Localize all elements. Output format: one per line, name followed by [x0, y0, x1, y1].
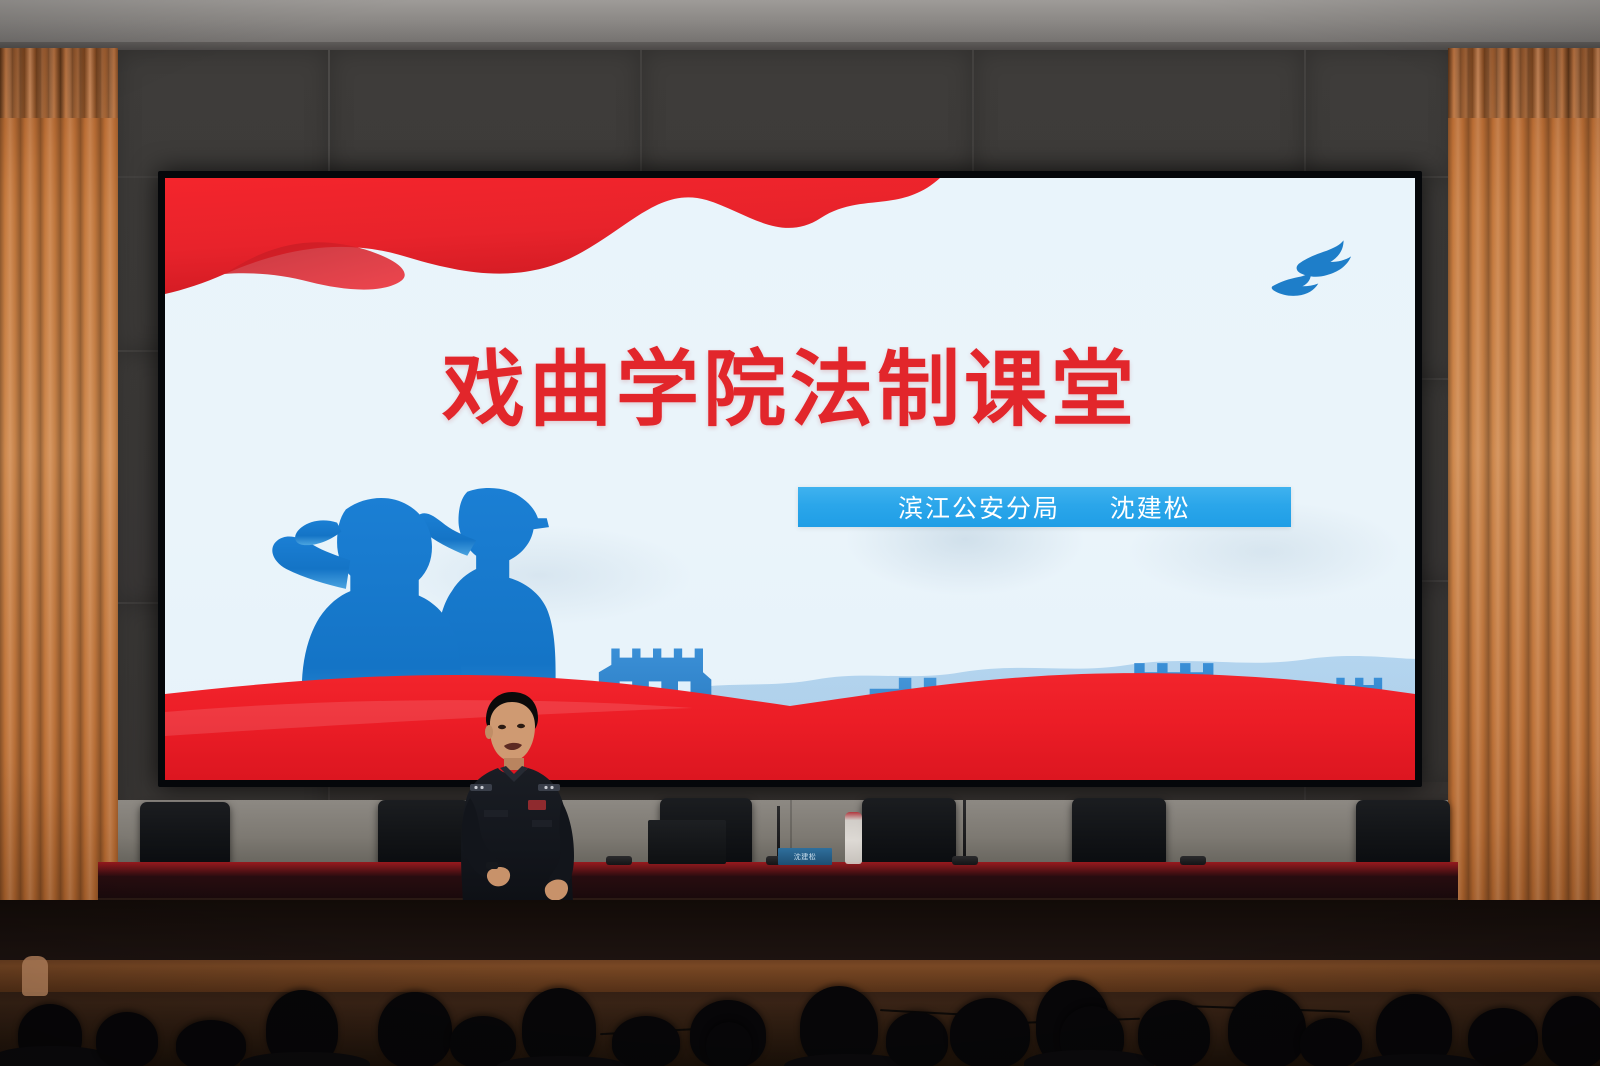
stage-curtain-right — [1448, 48, 1600, 948]
curtain-left-heading — [0, 48, 118, 118]
chair — [862, 798, 956, 864]
ceiling-soffit — [0, 0, 1600, 48]
raised-hand — [22, 956, 48, 996]
microphone-stem — [963, 800, 966, 858]
curtain-right-heading — [1448, 48, 1600, 118]
presenter-police-officer — [446, 684, 592, 924]
chair — [140, 802, 230, 864]
red-silk-ribbon — [165, 178, 940, 318]
audience-head — [1300, 1018, 1362, 1066]
led-screen-bezel: 戏曲学院法制课堂 滨江公安分局 沈建松 — [158, 171, 1422, 787]
auditorium-scene: 戏曲学院法制课堂 滨江公安分局 沈建松 — [0, 0, 1600, 1066]
chair — [1072, 798, 1166, 864]
audience-head — [950, 998, 1030, 1066]
stage-curtain-left — [0, 48, 118, 948]
subtitle-banner: 滨江公安分局 沈建松 — [798, 487, 1292, 527]
audience-head — [706, 1022, 752, 1066]
audience-head — [1542, 996, 1600, 1066]
chair — [1356, 800, 1450, 864]
slide-title: 戏曲学院法制课堂 — [165, 322, 1415, 442]
red-wave-band — [165, 650, 1415, 780]
audience-head — [612, 1016, 680, 1066]
audience-head — [378, 992, 452, 1066]
laptop-computer — [648, 820, 726, 864]
audience-head — [96, 1012, 158, 1066]
subtitle-text: 滨江公安分局 沈建松 — [898, 489, 1191, 525]
audience-head — [522, 988, 596, 1066]
audience-head — [1228, 990, 1306, 1066]
audience-head — [1138, 1000, 1210, 1066]
microphone-base — [1180, 856, 1206, 865]
flying-doves-icon — [1238, 232, 1363, 316]
presentation-slide[interactable]: 戏曲学院法制课堂 滨江公安分局 沈建松 — [165, 178, 1415, 780]
nameplate: 沈建松 — [778, 848, 832, 865]
audience-head — [1468, 1008, 1538, 1066]
audience-head — [176, 1020, 246, 1066]
audience-shoulder — [1024, 1050, 1154, 1066]
audience-head — [886, 1012, 948, 1066]
stage-front-shadow — [0, 900, 1600, 960]
audience-head — [450, 1016, 516, 1066]
microphone-base — [606, 856, 632, 865]
microphone-base — [952, 856, 978, 865]
nameplate-text: 沈建松 — [794, 852, 817, 862]
water-bottle — [845, 812, 862, 864]
